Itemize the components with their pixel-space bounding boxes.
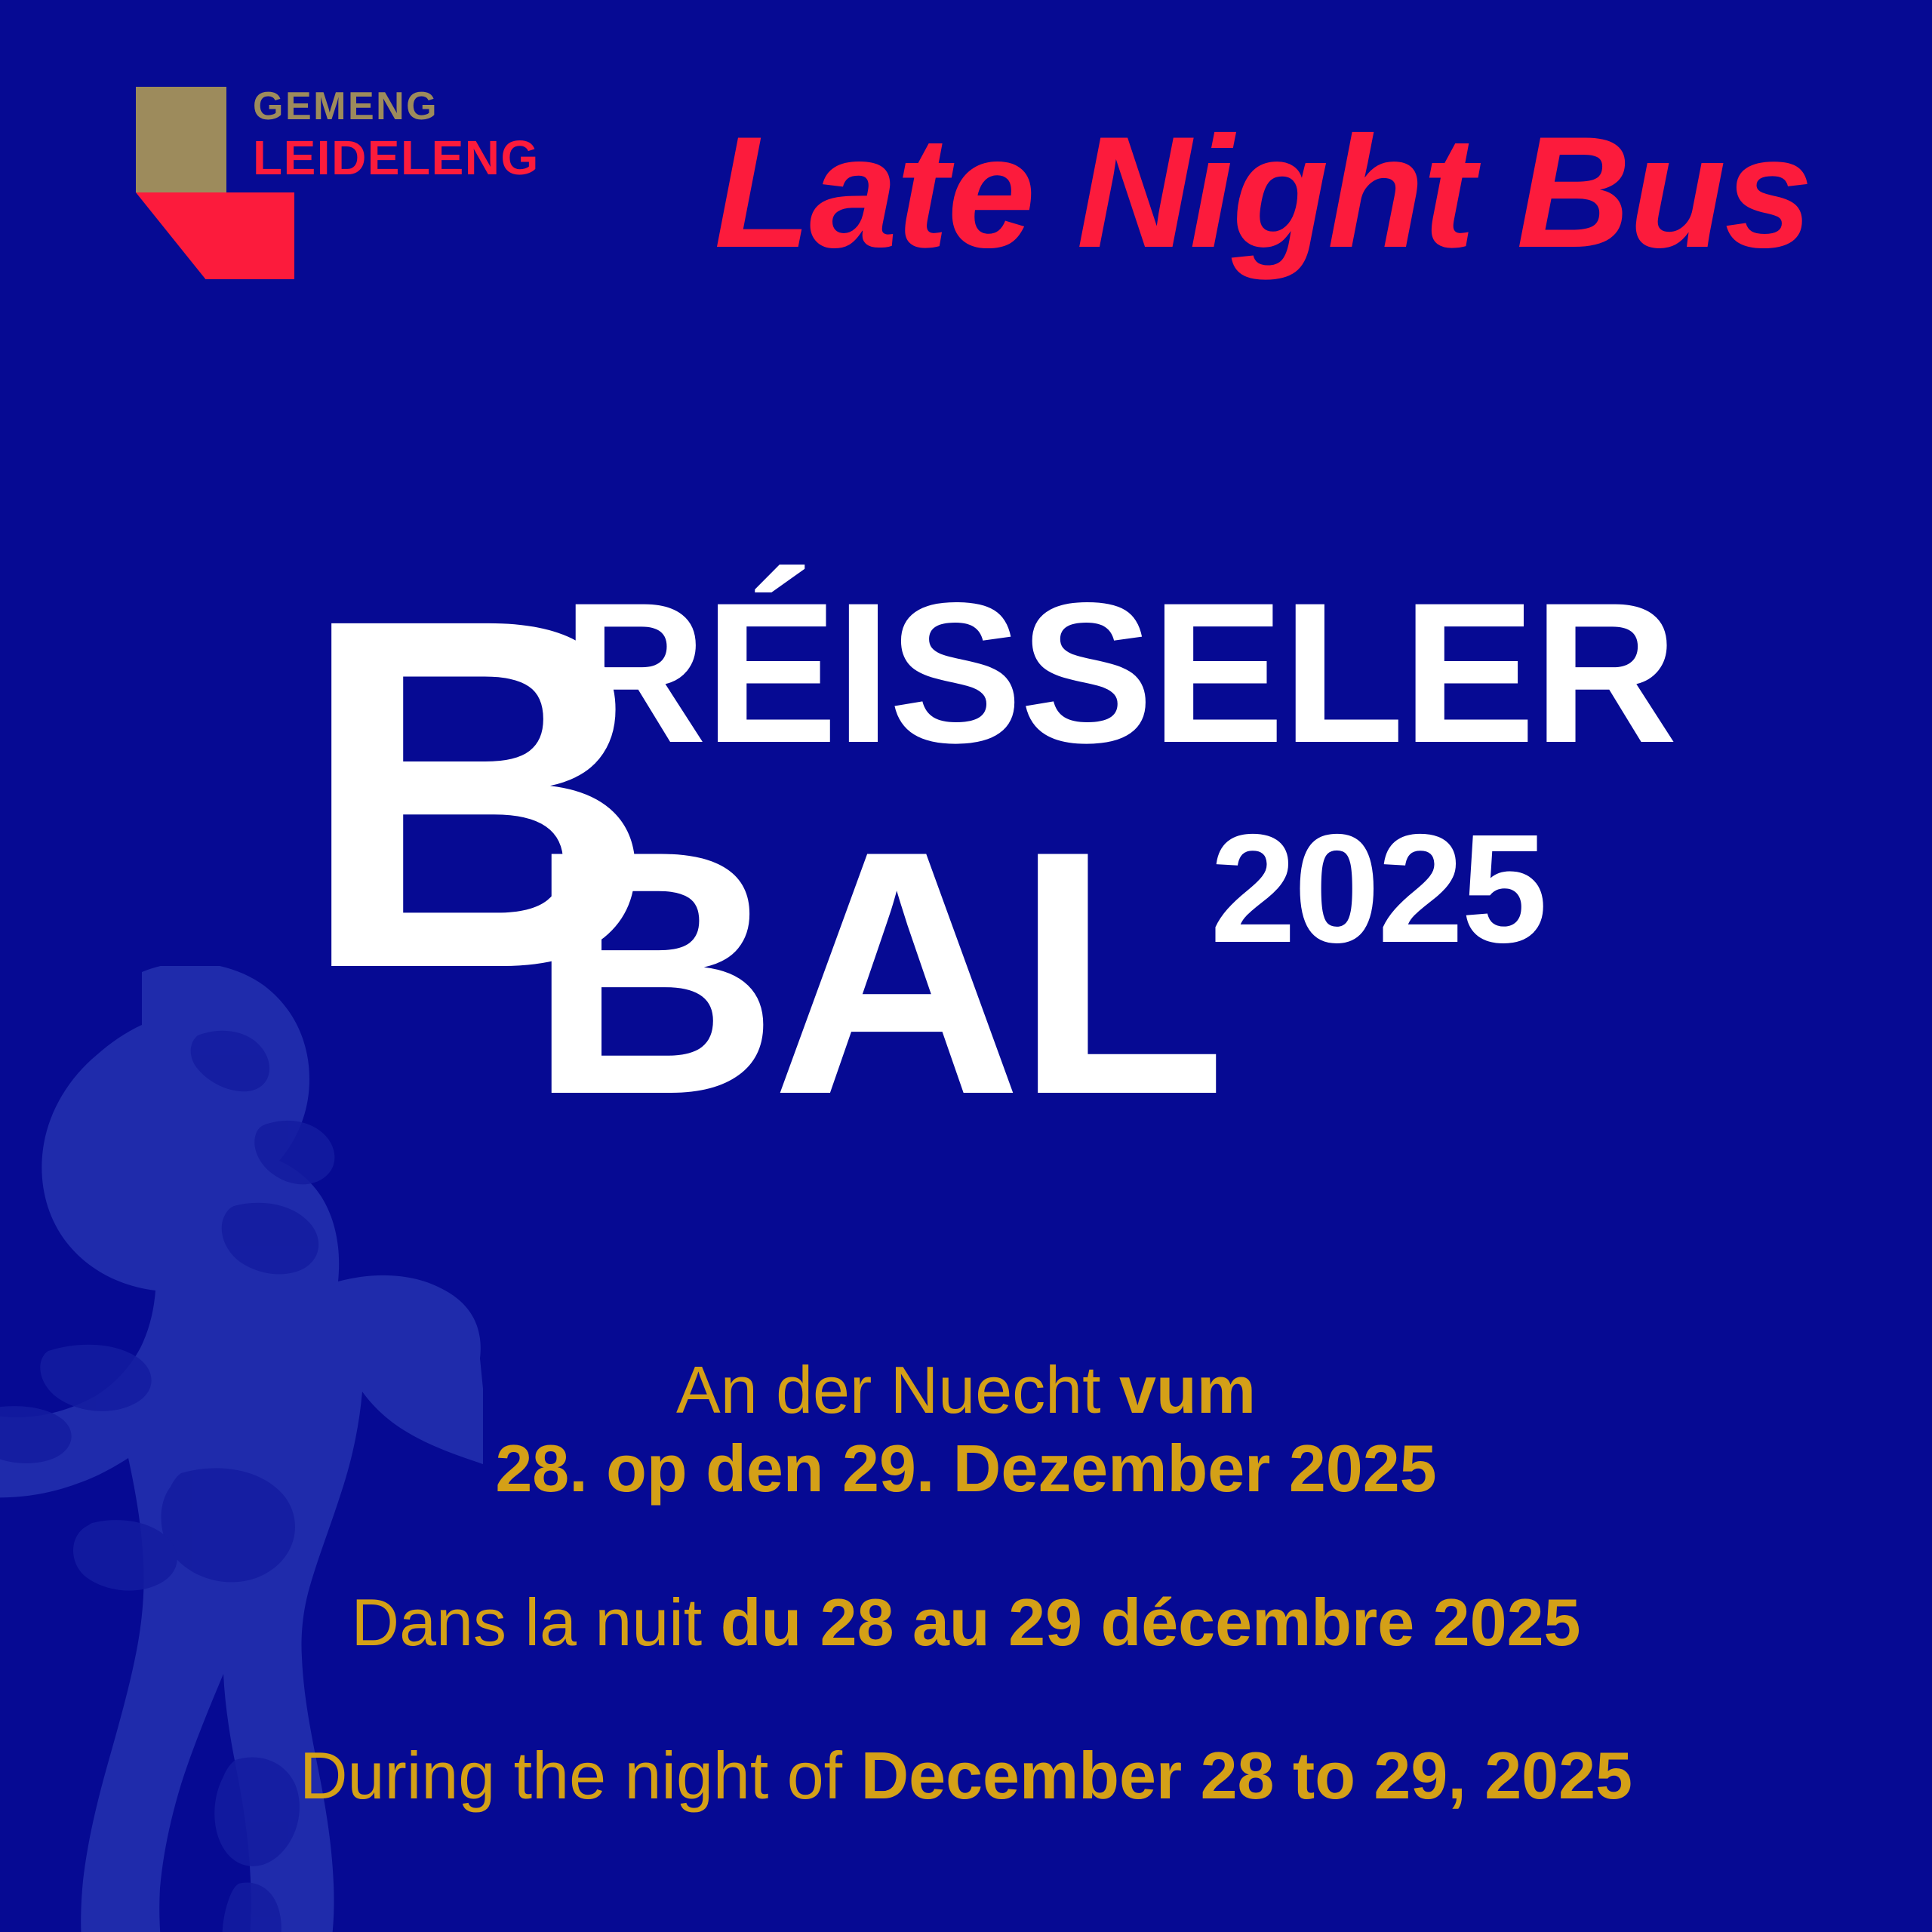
date-line-english: During the night of December 28 to 29, 2…: [0, 1737, 1932, 1815]
date-en-plain: During the night of: [300, 1738, 861, 1813]
date-lu-bold-vum: vum: [1119, 1352, 1256, 1427]
date-line-luxembourgish-1: An der Nuecht vum: [0, 1351, 1932, 1429]
date-en-bold: December 28 to 29, 2025: [861, 1738, 1632, 1813]
late-night-bus-banner: Late Night Bus: [0, 113, 1811, 272]
title-word-bal-group: BAL2025: [528, 800, 1554, 1147]
title-word-bal: BAL: [528, 780, 1219, 1167]
date-fr-bold: du 28 au 29 décembre 2025: [721, 1585, 1581, 1660]
date-line-luxembourgish-2: 28. op den 29. Dezember 2025: [0, 1429, 1932, 1508]
poster-canvas: GEMENG LEIDELENG Late Night Bus B RÉISSE…: [0, 0, 1932, 1932]
date-block: An der Nuecht vum 28. op den 29. Dezembe…: [0, 1351, 1932, 1815]
date-lu-plain: An der Nuecht: [676, 1352, 1119, 1427]
title-word-breisseler: RÉISSELER: [562, 574, 1675, 774]
date-lu-bold-full: 28. op den 29. Dezember 2025: [495, 1431, 1436, 1506]
title-year-2025: 2025: [1210, 802, 1545, 975]
event-title-lockup: B RÉISSELER BAL2025: [0, 574, 1932, 1253]
date-line-french: Dans la nuit du 28 au 29 décembre 2025: [0, 1583, 1932, 1662]
date-fr-plain: Dans la nuit: [352, 1585, 721, 1660]
